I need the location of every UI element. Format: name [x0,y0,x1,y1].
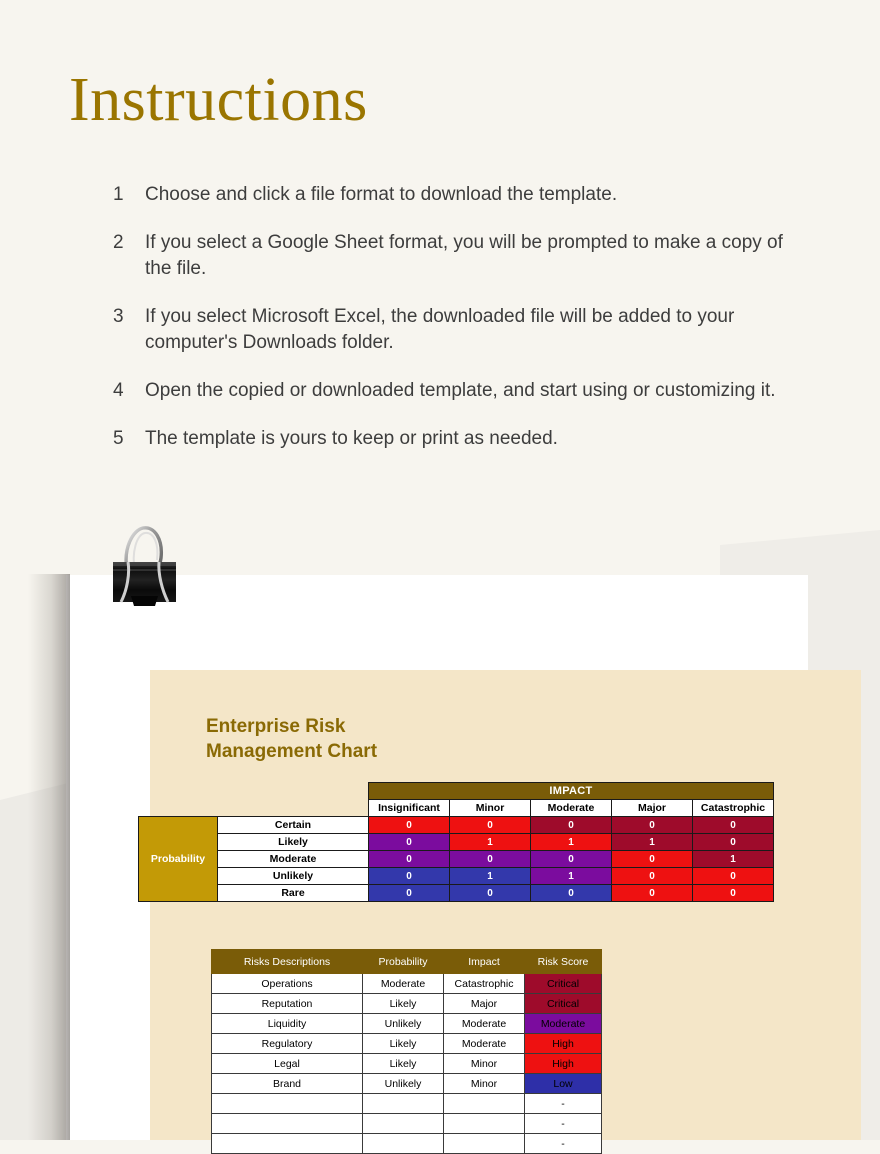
matrix-cell: 0 [693,868,774,885]
instruction-step-number: 2 [113,230,145,256]
matrix-cell: 1 [693,851,774,868]
risk-impact-cell: Minor [444,1074,525,1094]
table-row: - [212,1134,602,1154]
table-row: ReputationLikelyMajorCritical [212,994,602,1014]
matrix-cell: 0 [612,868,693,885]
matrix-impact-label: IMPACT [369,783,774,800]
matrix-cell: 0 [369,817,450,834]
matrix-row: Moderate00001 [139,851,774,868]
matrix-cell: 0 [369,868,450,885]
risk-probability-cell [363,1134,444,1154]
matrix-row: ProbabilityCertain00000 [139,817,774,834]
matrix-cell: 0 [450,885,531,902]
risk-probability-cell: Moderate [363,974,444,994]
instruction-step: 1Choose and click a file format to downl… [113,182,813,208]
risk-table-column-header: Probability [363,950,444,974]
table-row: LegalLikelyMinorHigh [212,1054,602,1074]
risk-description-cell: Brand [212,1074,363,1094]
table-row: OperationsModerateCatastrophicCritical [212,974,602,994]
matrix-cell: 0 [369,851,450,868]
matrix-cell: 0 [693,834,774,851]
matrix-cell: 0 [612,817,693,834]
chart-title-line2: Management Chart [206,739,377,764]
matrix-cell: 1 [450,868,531,885]
chart-title-line1: Enterprise Risk [206,714,377,739]
instruction-step: 4Open the copied or downloaded template,… [113,378,813,404]
table-row: BrandUnlikelyMinorLow [212,1074,602,1094]
instruction-step-text: If you select a Google Sheet format, you… [145,230,805,282]
instruction-step-number: 5 [113,426,145,452]
table-row: - [212,1114,602,1134]
risk-probability-cell [363,1114,444,1134]
risk-score-cell: High [525,1034,602,1054]
matrix-row-header: Unlikely [218,868,369,885]
risk-score-cell: High [525,1054,602,1074]
binder-clip-icon [105,518,185,610]
risk-impact-cell: Moderate [444,1034,525,1054]
instruction-step-text: If you select Microsoft Excel, the downl… [145,304,805,356]
table-row: - [212,1094,602,1114]
risk-score-cell: - [525,1094,602,1114]
chart-title: Enterprise Risk Management Chart [206,714,377,764]
table-row: LiquidityUnlikelyModerateModerate [212,1014,602,1034]
instruction-step-number: 1 [113,182,145,208]
risk-description-cell: Operations [212,974,363,994]
risk-impact-cell: Catastrophic [444,974,525,994]
risk-description-cell: Legal [212,1054,363,1074]
risk-impact-cell: Minor [444,1054,525,1074]
risk-probability-cell: Unlikely [363,1014,444,1034]
matrix-column-header: Catastrophic [693,800,774,817]
risk-table-column-header: Impact [444,950,525,974]
matrix-row-header: Certain [218,817,369,834]
risk-probability-cell: Unlikely [363,1074,444,1094]
matrix-corner-blank [139,783,369,800]
risk-impact-cell: Major [444,994,525,1014]
risk-probability-cell: Likely [363,1054,444,1074]
matrix-cell: 1 [531,834,612,851]
matrix-cell: 0 [369,834,450,851]
matrix-column-header-row: InsignificantMinorModerateMajorCatastrop… [139,800,774,817]
risk-table-column-header: Risks Descriptions [212,950,363,974]
matrix-cell: 0 [450,851,531,868]
page-title: Instructions [69,66,368,134]
instruction-step: 5The template is yours to keep or print … [113,426,813,452]
instruction-step-number: 3 [113,304,145,330]
matrix-row-header: Moderate [218,851,369,868]
matrix-cell: 0 [531,885,612,902]
matrix-cell: 0 [612,851,693,868]
matrix-row-header: Likely [218,834,369,851]
risk-description-cell: Reputation [212,994,363,1014]
matrix-cell: 0 [369,885,450,902]
matrix-row-header: Rare [218,885,369,902]
risk-score-cell: Critical [525,994,602,1014]
risk-description-cell: Liquidity [212,1014,363,1034]
risk-impact-cell [444,1134,525,1154]
matrix-corner-blank [139,800,369,817]
risk-score-cell: Moderate [525,1014,602,1034]
table-row: RegulatoryLikelyModerateHigh [212,1034,602,1054]
matrix-row: Likely01110 [139,834,774,851]
matrix-cell: 1 [531,868,612,885]
matrix-cell: 0 [450,817,531,834]
matrix-cell: 0 [531,851,612,868]
instruction-step-text: Open the copied or downloaded template, … [145,378,776,404]
matrix-column-header: Moderate [531,800,612,817]
instruction-step-number: 4 [113,378,145,404]
risk-probability-cell: Likely [363,1034,444,1054]
risk-score-cell: - [525,1134,602,1154]
matrix-column-header: Major [612,800,693,817]
matrix-impact-header-row: IMPACT [139,783,774,800]
matrix-cell: 0 [531,817,612,834]
risk-description-cell [212,1114,363,1134]
matrix-column-header: Insignificant [369,800,450,817]
matrix-row: Unlikely01100 [139,868,774,885]
risk-impact-cell: Moderate [444,1014,525,1034]
risk-description-cell [212,1134,363,1154]
matrix-column-header: Minor [450,800,531,817]
risk-probability-cell: Likely [363,994,444,1014]
risk-description-cell [212,1094,363,1114]
risk-description-cell: Regulatory [212,1034,363,1054]
page-curl-shadow [28,574,70,1140]
risk-score-cell: - [525,1114,602,1134]
risk-score-cell: Critical [525,974,602,994]
risk-impact-cell [444,1114,525,1134]
matrix-cell: 1 [612,834,693,851]
risk-score-cell: Low [525,1074,602,1094]
risk-probability-cell [363,1094,444,1114]
instruction-step-text: Choose and click a file format to downlo… [145,182,617,208]
instruction-step: 3If you select Microsoft Excel, the down… [113,304,813,356]
matrix-cell: 0 [693,885,774,902]
matrix-cell: 0 [612,885,693,902]
matrix-cell: 0 [693,817,774,834]
risk-matrix-table: IMPACTInsignificantMinorModerateMajorCat… [138,782,774,902]
instruction-step: 2If you select a Google Sheet format, yo… [113,230,813,282]
risk-table-column-header: Risk Score [525,950,602,974]
matrix-row: Rare00000 [139,885,774,902]
instructions-list: 1Choose and click a file format to downl… [113,182,813,474]
matrix-cell: 1 [450,834,531,851]
risk-impact-cell [444,1094,525,1114]
matrix-probability-label: Probability [139,817,218,902]
instruction-step-text: The template is yours to keep or print a… [145,426,558,452]
risk-register-table: Risks DescriptionsProbabilityImpactRisk … [211,949,602,1154]
